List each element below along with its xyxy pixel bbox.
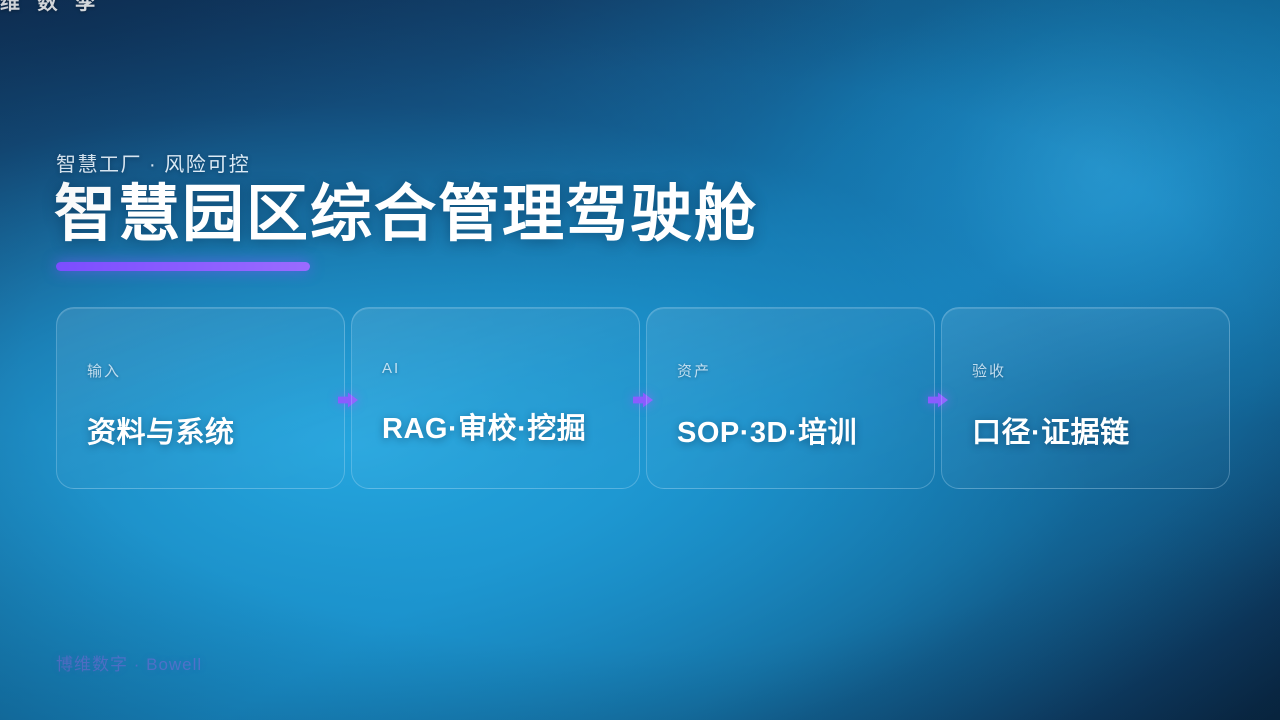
page-title: 智慧园区综合管理驾驶舱 xyxy=(54,182,758,249)
pipeline-card-asset[interactable]: 资产 SOP·3D·培训 xyxy=(646,307,935,489)
card-title: RAG·审校·挖掘 xyxy=(382,405,639,447)
card-title: 口径·证据链 xyxy=(972,409,1229,451)
pipeline-card-input[interactable]: 输入 资料与系统 xyxy=(56,307,345,489)
card-title: 资料与系统 xyxy=(87,409,344,451)
pipeline-card-ai[interactable]: AI RAG·审校·挖掘 xyxy=(351,307,640,489)
footer-brand: 博维数字 · Bowell xyxy=(56,650,202,675)
pipeline-cards: 输入 资料与系统 AI RAG·审校·挖掘 资产 SOP·3D·培训 xyxy=(56,307,1226,489)
slide-content: 智慧工厂 · 风险可控 智慧园区综合管理驾驶舱 输入 资料与系统 AI RAG·… xyxy=(56,0,1236,720)
pipeline-card-acceptance[interactable]: 验收 口径·证据链 xyxy=(941,307,1230,489)
card-label: 验收 xyxy=(972,360,1229,381)
card-label: AI xyxy=(382,360,639,377)
hero-eyebrow: 智慧工厂 · 风险可控 xyxy=(56,148,250,177)
card-label: 输入 xyxy=(87,360,344,381)
title-accent-bar xyxy=(56,262,310,271)
card-label: 资产 xyxy=(677,360,934,381)
slide-canvas: 维 数 孪 智慧工厂 · 风险可控 智慧园区综合管理驾驶舱 输入 资料与系统 A… xyxy=(0,0,1280,720)
card-title: SOP·3D·培训 xyxy=(677,409,934,451)
